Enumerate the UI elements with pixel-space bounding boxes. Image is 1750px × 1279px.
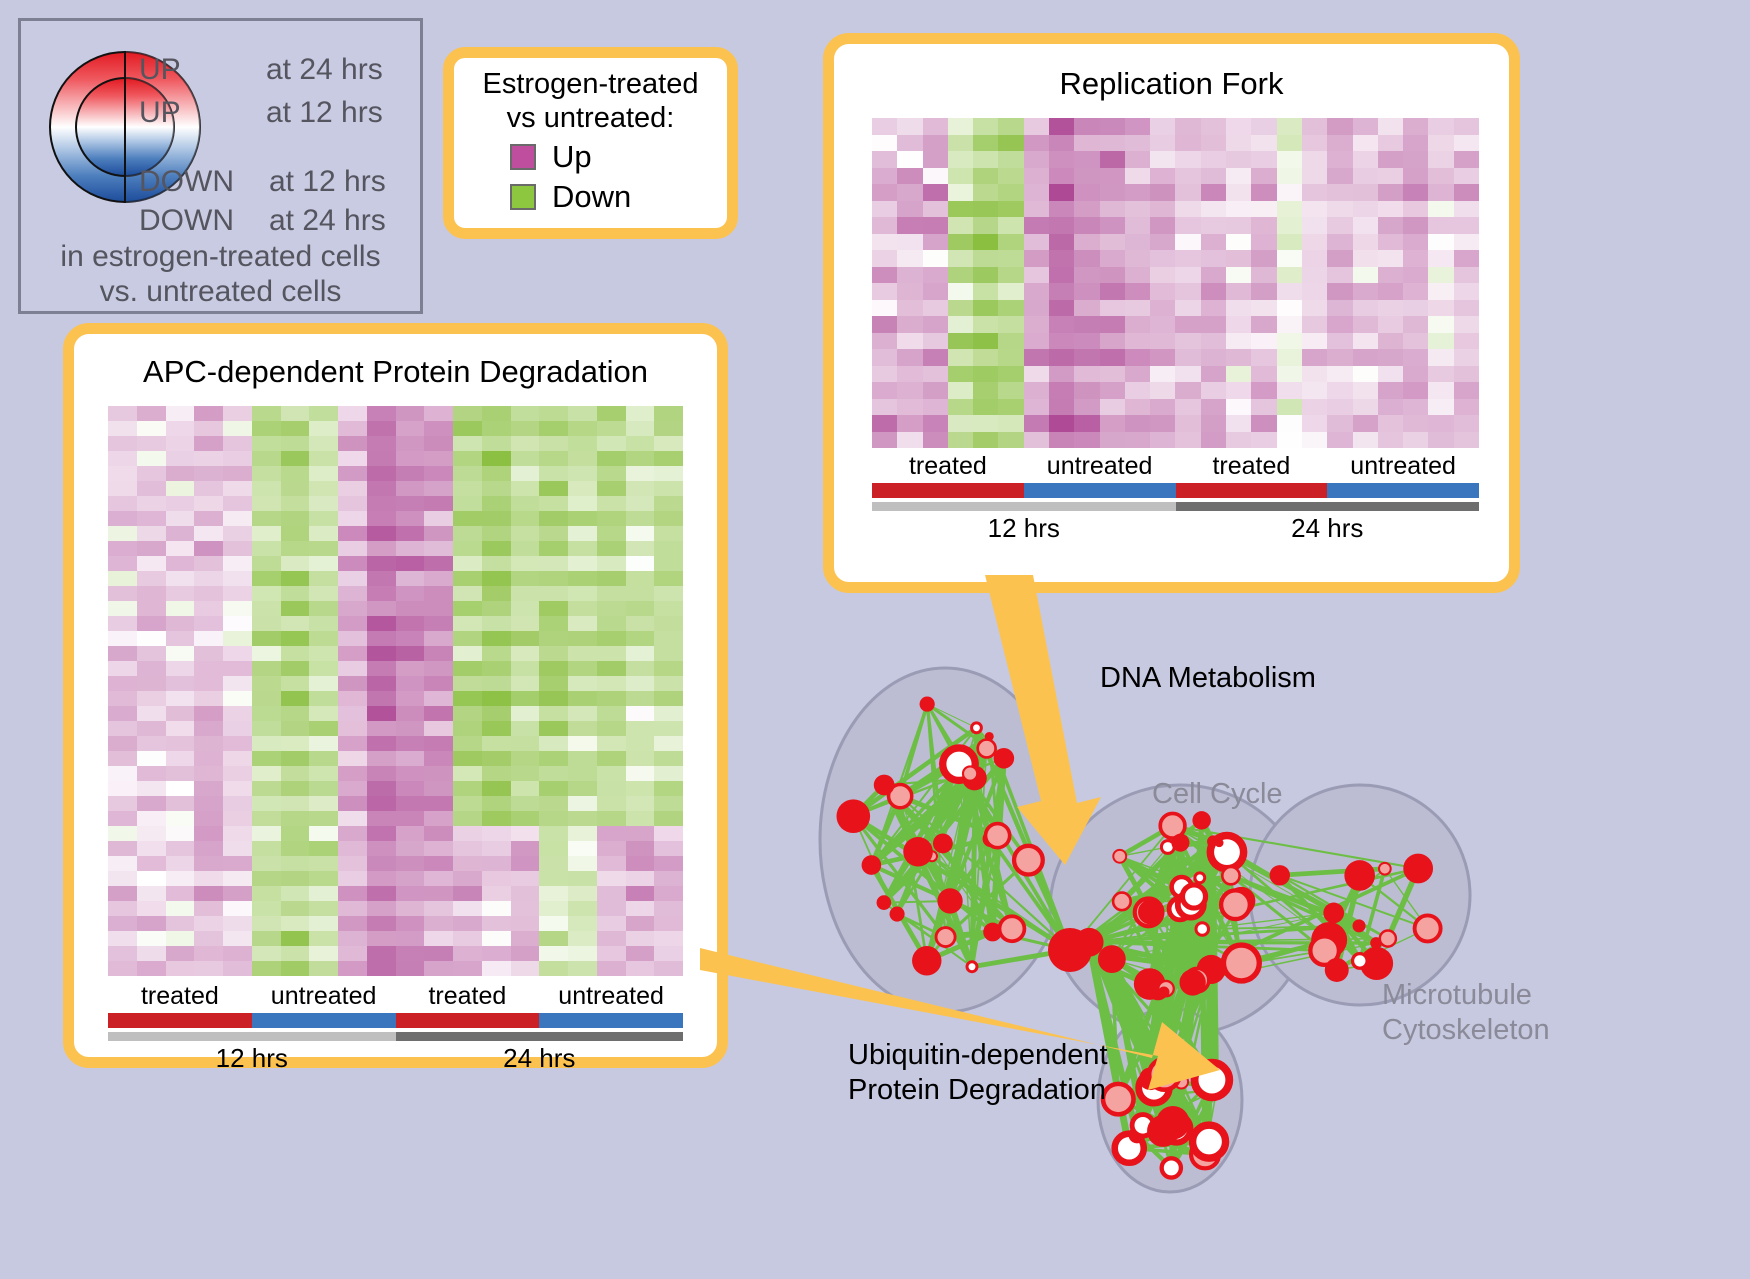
heatmap-cell: [1125, 366, 1150, 383]
heatmap-cell: [539, 751, 568, 766]
heatmap-cell: [1226, 366, 1251, 383]
heatmap-cell: [872, 267, 897, 284]
heatmap-cell: [1403, 399, 1428, 416]
heatmap-cell: [223, 646, 252, 661]
heatmap-cell: [626, 706, 655, 721]
heatmap-cell: [396, 676, 425, 691]
heatmap-cell: [1251, 349, 1276, 366]
heatmap-cell: [1049, 300, 1074, 317]
heatmap-cell: [137, 856, 166, 871]
heatmap-cell: [1454, 151, 1479, 168]
heatmap-cell: [1074, 300, 1099, 317]
heatmap-cell: [1428, 382, 1453, 399]
heatmap-cell: [1175, 349, 1200, 366]
heatmap-cell: [424, 706, 453, 721]
heatmap-cell: [539, 556, 568, 571]
heatmap-cell: [1049, 184, 1074, 201]
heatmap-cell: [1302, 349, 1327, 366]
heatmap-cell: [281, 556, 310, 571]
heatmap-cell: [338, 706, 367, 721]
network-node: [1210, 836, 1243, 869]
heatmap-cell: [654, 931, 683, 946]
heatmap-cell: [309, 496, 338, 511]
heatmap-cell: [194, 406, 223, 421]
heatmap-cell: [872, 300, 897, 317]
heatmap-cell: [1353, 316, 1378, 333]
heatmap-cell: [108, 916, 137, 931]
heatmap-cell: [252, 511, 281, 526]
heatmap-cell: [1353, 168, 1378, 185]
heatmap-cell: [367, 766, 396, 781]
heatmap-cell: [396, 961, 425, 976]
heatmap-cell: [1302, 184, 1327, 201]
updown-legend-title-line1: Estrogen-treated: [454, 68, 727, 102]
heatmap-cell: [626, 436, 655, 451]
heatmap-cell: [309, 676, 338, 691]
heatmap-cell: [1100, 349, 1125, 366]
heatmap-cell: [511, 721, 540, 736]
heatmap-cell: [252, 466, 281, 481]
column-headers-apc: treateduntreatedtreateduntreated: [108, 982, 683, 1011]
heatmap-cell: [281, 406, 310, 421]
heatmap-cell: [453, 796, 482, 811]
heatmap-cell: [872, 382, 897, 399]
heatmap-cell: [108, 886, 137, 901]
heatmap-cell: [367, 961, 396, 976]
heatmap-cell: [194, 796, 223, 811]
heatmap-cell: [511, 481, 540, 496]
heatmap-cell: [872, 366, 897, 383]
heatmap-cell: [252, 661, 281, 676]
heatmap-cell: [654, 796, 683, 811]
heatmap-cell: [1150, 399, 1175, 416]
heatmap-cell: [137, 556, 166, 571]
heatmap-cell: [309, 901, 338, 916]
heatmap-cell: [539, 421, 568, 436]
heatmap-cell: [1302, 168, 1327, 185]
heatmap-cell: [1125, 234, 1150, 251]
heatmap-cell: [923, 366, 948, 383]
heatmap-cell: [923, 184, 948, 201]
heatmap-cell: [626, 871, 655, 886]
heatmap-cell: [424, 676, 453, 691]
heatmap-cell: [482, 511, 511, 526]
heatmap-cell: [1049, 316, 1074, 333]
heatmap-cell: [396, 721, 425, 736]
heatmap-cell: [654, 721, 683, 736]
heatmap-cell: [194, 706, 223, 721]
heatmap-cell: [511, 916, 540, 931]
heatmap-cell: [281, 691, 310, 706]
heatmap-cell: [1024, 316, 1049, 333]
legend-label-down: Down: [552, 179, 631, 215]
timepoint-labels-replication-fork: 12 hrs24 hrs: [872, 513, 1479, 544]
heatmap-cell: [539, 811, 568, 826]
heatmap-cell: [1277, 349, 1302, 366]
heatmap-cell: [367, 511, 396, 526]
heatmap-cell: [597, 841, 626, 856]
heatmap-cell: [654, 586, 683, 601]
heatmap-cell: [1150, 151, 1175, 168]
heatmap-cell: [1403, 300, 1428, 317]
heatmap-cell: [1403, 201, 1428, 218]
heatmap-cell: [367, 721, 396, 736]
heatmap-cell: [1049, 349, 1074, 366]
heatmap-cell: [1327, 366, 1352, 383]
condition-segment: [1024, 483, 1176, 498]
heatmap-cell: [1125, 118, 1150, 135]
heatmap-cell: [309, 961, 338, 976]
heatmap-cell: [1378, 399, 1403, 416]
heatmap-cell: [1251, 333, 1276, 350]
heatmap-cell: [367, 691, 396, 706]
heatmap-cell: [281, 901, 310, 916]
heatmap-cell: [948, 415, 973, 432]
heatmap-cell: [309, 751, 338, 766]
heatmap-cell: [396, 631, 425, 646]
heatmap-cell: [482, 541, 511, 556]
heatmap-cell: [367, 421, 396, 436]
heatmap-cell: [568, 466, 597, 481]
heatmap-cell: [252, 916, 281, 931]
heatmap-cell: [1327, 168, 1352, 185]
heatmap-cell: [482, 736, 511, 751]
heatmap-cell: [482, 466, 511, 481]
timepoint-labels-apc: 12 hrs24 hrs: [108, 1043, 683, 1074]
heatmap-cell: [973, 234, 998, 251]
heatmap-cell: [108, 826, 137, 841]
heatmap-cell: [1226, 118, 1251, 135]
heatmap-cell: [424, 811, 453, 826]
heatmap-cell: [166, 646, 195, 661]
heatmap-cell: [654, 466, 683, 481]
heatmap-cell: [948, 184, 973, 201]
timepoint-segment: [396, 1032, 684, 1041]
heatmap-cell: [194, 916, 223, 931]
network-node: [1195, 873, 1205, 883]
heatmap-cell: [367, 496, 396, 511]
heatmap-cell: [252, 541, 281, 556]
heatmap-cell: [252, 901, 281, 916]
heatmap-cell: [1100, 333, 1125, 350]
heatmap-cell: [568, 406, 597, 421]
heatmap-cell: [137, 961, 166, 976]
heatmap-cell: [166, 826, 195, 841]
heatmap-cell: [1175, 366, 1200, 383]
legend-item-up: Up: [510, 139, 727, 175]
heatmap-cell: [1175, 250, 1200, 267]
heatmap-cell: [1100, 399, 1125, 416]
heatmap-cell: [511, 556, 540, 571]
heatmap-cell: [166, 886, 195, 901]
heatmap-cell: [281, 706, 310, 721]
column-header: treated: [108, 982, 252, 1011]
heatmap-cell: [1024, 234, 1049, 251]
heatmap-cell: [1454, 316, 1479, 333]
arrow-replication-fork-to-dna: [955, 575, 1125, 875]
heatmap-cell: [973, 217, 998, 234]
heatmap-cell: [223, 586, 252, 601]
heatmap-cell: [539, 961, 568, 976]
heatmap-cell: [1251, 201, 1276, 218]
heatmap-cell: [166, 706, 195, 721]
heatmap-cell: [626, 526, 655, 541]
heatmap-cell: [482, 826, 511, 841]
heatmap-cell: [654, 961, 683, 976]
heatmap-cell: [1074, 333, 1099, 350]
heatmap-cell: [108, 466, 137, 481]
heatmap-cell: [1175, 300, 1200, 317]
heatmap-cell: [1150, 382, 1175, 399]
heatmap-cell: [568, 961, 597, 976]
heatmap-cell: [166, 961, 195, 976]
heatmap-cell: [166, 556, 195, 571]
heatmap-cell: [1378, 316, 1403, 333]
heatmap-cell: [1074, 399, 1099, 416]
timepoint-segment: [872, 502, 1176, 511]
heatmap-cell: [338, 466, 367, 481]
heatmap-cell: [597, 916, 626, 931]
heatmap-cell: [897, 415, 922, 432]
heatmap-cell: [998, 382, 1023, 399]
heatmap-cell: [654, 526, 683, 541]
heatmap-cell: [252, 766, 281, 781]
heatmap-cell: [1024, 267, 1049, 284]
timepoint-label: 24 hrs: [396, 1043, 684, 1074]
heatmap-cell: [453, 886, 482, 901]
heatmap-cell: [482, 421, 511, 436]
heatmap-cell: [1175, 118, 1200, 135]
heatmap-cell: [309, 661, 338, 676]
heatmap-cell: [626, 601, 655, 616]
heatmap-cell: [568, 721, 597, 736]
heatmap-cell: [367, 466, 396, 481]
heatmap-cell: [1302, 217, 1327, 234]
heatmap-cell: [1353, 118, 1378, 135]
heatmap-cell: [281, 946, 310, 961]
heatmap-cell: [309, 916, 338, 931]
heatmap-cell: [1125, 333, 1150, 350]
heatmap-cell: [597, 601, 626, 616]
network-node: [903, 837, 933, 867]
heatmap-cell: [511, 436, 540, 451]
heatmap-cell: [654, 886, 683, 901]
heatmap-cell: [539, 511, 568, 526]
heatmap-cell: [1125, 168, 1150, 185]
wheel-key-up-24: UP: [139, 53, 181, 87]
heatmap-cell: [108, 691, 137, 706]
heatmap-cell: [568, 946, 597, 961]
heatmap-cell: [482, 631, 511, 646]
heatmap-cell: [568, 511, 597, 526]
heatmap-cell: [568, 646, 597, 661]
heatmap-cell: [568, 931, 597, 946]
heatmap-cell: [1226, 333, 1251, 350]
heatmap-cell: [1100, 267, 1125, 284]
heatmap-cell: [309, 466, 338, 481]
heatmap-cell: [1378, 349, 1403, 366]
heatmap-cell: [511, 871, 540, 886]
heatmap-cell: [539, 841, 568, 856]
heatmap-cell: [1201, 118, 1226, 135]
heatmap-cell: [1302, 267, 1327, 284]
heatmap-cell: [1175, 151, 1200, 168]
heatmap-cell: [1302, 283, 1327, 300]
heatmap-cell: [539, 496, 568, 511]
heatmap-cell: [166, 736, 195, 751]
heatmap-cell: [108, 796, 137, 811]
heatmap-cell: [309, 811, 338, 826]
heatmap-cell: [1251, 135, 1276, 152]
heatmap-cell: [1175, 234, 1200, 251]
heatmap-cell: [338, 601, 367, 616]
heatmap-cell: [1454, 168, 1479, 185]
heatmap-cell: [568, 901, 597, 916]
heatmap-cell: [137, 616, 166, 631]
heatmap-cell: [1454, 415, 1479, 432]
heatmap-cell: [998, 135, 1023, 152]
heatmap-replication-fork: [872, 118, 1479, 448]
heatmap-cell: [568, 691, 597, 706]
heatmap-cell: [597, 691, 626, 706]
network-node: [1171, 834, 1189, 852]
heatmap-cell: [453, 961, 482, 976]
panel-title-replication-fork: Replication Fork: [834, 66, 1509, 102]
heatmap-cell: [539, 466, 568, 481]
heatmap-cell: [108, 586, 137, 601]
heatmap-cell: [1454, 118, 1479, 135]
heatmap-cell: [948, 151, 973, 168]
heatmap-cell: [108, 511, 137, 526]
heatmap-cell: [1100, 300, 1125, 317]
heatmap-cell: [1403, 184, 1428, 201]
heatmap-cell: [511, 541, 540, 556]
heatmap-cell: [223, 511, 252, 526]
heatmap-cell: [309, 556, 338, 571]
heatmap-cell: [281, 766, 310, 781]
heatmap-cell: [654, 871, 683, 886]
heatmap-cell: [108, 496, 137, 511]
heatmap-cell: [1150, 184, 1175, 201]
heatmap-cell: [872, 151, 897, 168]
heatmap-cell: [338, 766, 367, 781]
network-node: [1344, 860, 1375, 891]
heatmap-cell: [998, 349, 1023, 366]
heatmap-cell: [597, 676, 626, 691]
heatmap-cell: [309, 616, 338, 631]
heatmap-cell: [424, 556, 453, 571]
heatmap-cell: [872, 399, 897, 416]
heatmap-cell: [1074, 382, 1099, 399]
heatmap-cell: [166, 451, 195, 466]
heatmap-cell: [453, 616, 482, 631]
heatmap-cell: [1175, 217, 1200, 234]
heatmap-cell: [872, 316, 897, 333]
heatmap-cell: [424, 661, 453, 676]
heatmap-cell: [453, 766, 482, 781]
heatmap-cell: [654, 781, 683, 796]
heatmap-cell: [1327, 382, 1352, 399]
heatmap-cell: [482, 961, 511, 976]
heatmap-cell: [1302, 382, 1327, 399]
heatmap-cell: [367, 841, 396, 856]
heatmap-cell: [194, 781, 223, 796]
heatmap-cell: [597, 766, 626, 781]
heatmap-cell: [281, 661, 310, 676]
heatmap-cell: [281, 751, 310, 766]
heatmap-cell: [1100, 135, 1125, 152]
heatmap-cell: [137, 901, 166, 916]
heatmap-cell: [108, 766, 137, 781]
heatmap-cell: [1251, 234, 1276, 251]
heatmap-cell: [1428, 300, 1453, 317]
heatmap-cell: [1277, 382, 1302, 399]
heatmap-cell: [137, 436, 166, 451]
heatmap-cell: [194, 721, 223, 736]
heatmap-cell: [923, 415, 948, 432]
heatmap-cell: [338, 421, 367, 436]
heatmap-cell: [1125, 316, 1150, 333]
heatmap-cell: [973, 432, 998, 449]
heatmap-cell: [424, 511, 453, 526]
heatmap-cell: [1100, 250, 1125, 267]
heatmap-cell: [1428, 168, 1453, 185]
heatmap-cell: [1327, 333, 1352, 350]
heatmap-cell: [1428, 217, 1453, 234]
heatmap-cell: [1150, 250, 1175, 267]
heatmap-cell: [194, 871, 223, 886]
heatmap-cell: [137, 706, 166, 721]
heatmap-cell: [396, 406, 425, 421]
heatmap-cell: [482, 406, 511, 421]
heatmap-cell: [1353, 283, 1378, 300]
heatmap-cell: [223, 451, 252, 466]
heatmap-cell: [1100, 151, 1125, 168]
wheel-key-down-12: DOWN: [139, 165, 234, 199]
heatmap-cell: [396, 931, 425, 946]
heatmap-cell: [654, 766, 683, 781]
heatmap-cell: [998, 201, 1023, 218]
heatmap-cell: [923, 316, 948, 333]
heatmap-cell: [597, 511, 626, 526]
heatmap-cell: [539, 586, 568, 601]
heatmap-cell: [281, 496, 310, 511]
heatmap-cell: [973, 168, 998, 185]
heatmap-cell: [108, 811, 137, 826]
heatmap-cell: [1201, 168, 1226, 185]
heatmap-cell: [338, 586, 367, 601]
heatmap-cell: [1150, 201, 1175, 218]
heatmap-cell: [137, 451, 166, 466]
heatmap-cell: [511, 691, 540, 706]
heatmap-cell: [223, 676, 252, 691]
heatmap-cell: [194, 616, 223, 631]
heatmap-cell: [108, 421, 137, 436]
heatmap-cell: [1302, 201, 1327, 218]
heatmap-cell: [511, 751, 540, 766]
heatmap-cell: [626, 826, 655, 841]
cluster-label-cell-cycle: Cell Cycle: [1152, 778, 1283, 811]
network-node: [1325, 958, 1349, 982]
heatmap-cell: [223, 961, 252, 976]
heatmap-cell: [1201, 217, 1226, 234]
heatmap-cell: [1302, 333, 1327, 350]
heatmap-cell: [1024, 399, 1049, 416]
heatmap-cell: [626, 646, 655, 661]
heatmap-cell: [597, 631, 626, 646]
heatmap-cell: [511, 706, 540, 721]
condition-segment: [1176, 483, 1328, 498]
